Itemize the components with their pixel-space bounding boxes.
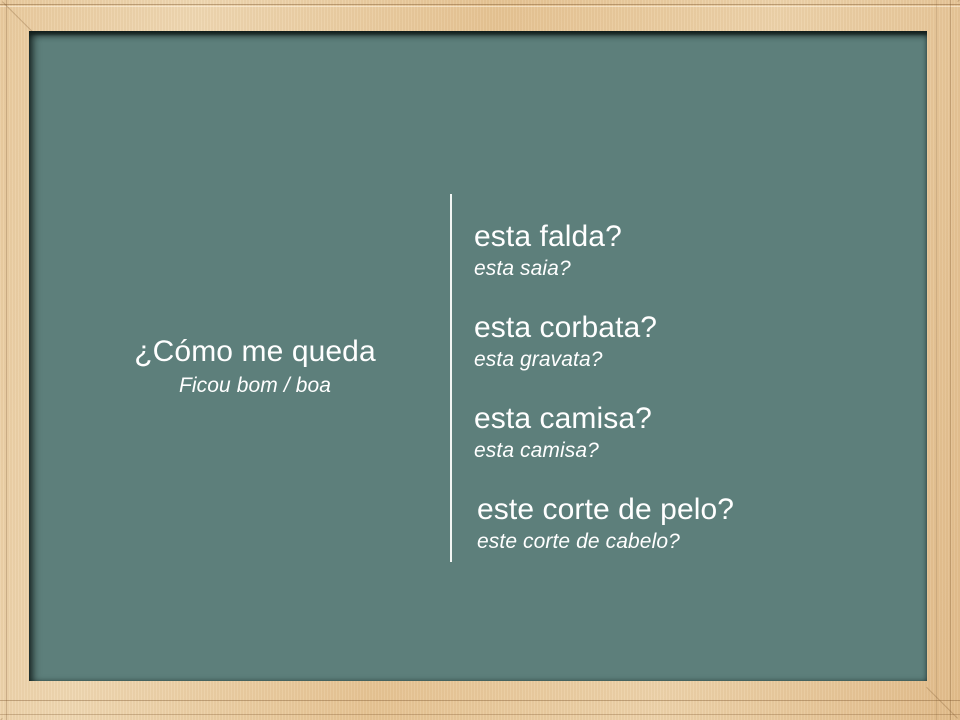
vertical-divider (450, 194, 452, 562)
chalkboard-content: ¿Cómo me queda Ficou bom / boa esta fald… (29, 31, 927, 681)
option-secondary-text: este corte de cabelo? (477, 528, 734, 556)
frame-scribe-line-left (6, 0, 7, 720)
option-primary-text: esta corbata? (474, 309, 657, 346)
option-secondary-text: esta camisa? (474, 437, 652, 465)
frame-scribe-line-top-inner (0, 6, 960, 7)
frame-scribe-line-top-outer (0, 4, 960, 5)
chalkboard-surface: ¿Cómo me queda Ficou bom / boa esta fald… (29, 31, 927, 681)
prompt-block: ¿Cómo me queda Ficou bom / boa (65, 333, 445, 401)
option-primary-text: este corte de pelo? (477, 491, 734, 528)
prompt-secondary-text: Ficou bom / boa (65, 371, 445, 401)
frame-scribe-line-right-inner (936, 0, 937, 720)
option-primary-text: esta falda? (474, 218, 622, 255)
option-item: este corte de pelo? este corte de cabelo… (477, 491, 734, 556)
option-item: esta falda? esta saia? (474, 218, 622, 283)
option-secondary-text: esta gravata? (474, 346, 657, 374)
option-secondary-text: esta saia? (474, 255, 622, 283)
option-item: esta camisa? esta camisa? (474, 400, 652, 465)
slide-canvas: ¿Cómo me queda Ficou bom / boa esta fald… (0, 0, 960, 720)
option-primary-text: esta camisa? (474, 400, 652, 437)
option-item: esta corbata? esta gravata? (474, 309, 657, 374)
prompt-primary-text: ¿Cómo me queda (65, 333, 445, 371)
frame-scribe-line-bottom-outer (0, 714, 960, 715)
frame-scribe-line-bottom-inner (0, 700, 960, 701)
frame-scribe-line-right-outer (950, 0, 951, 720)
